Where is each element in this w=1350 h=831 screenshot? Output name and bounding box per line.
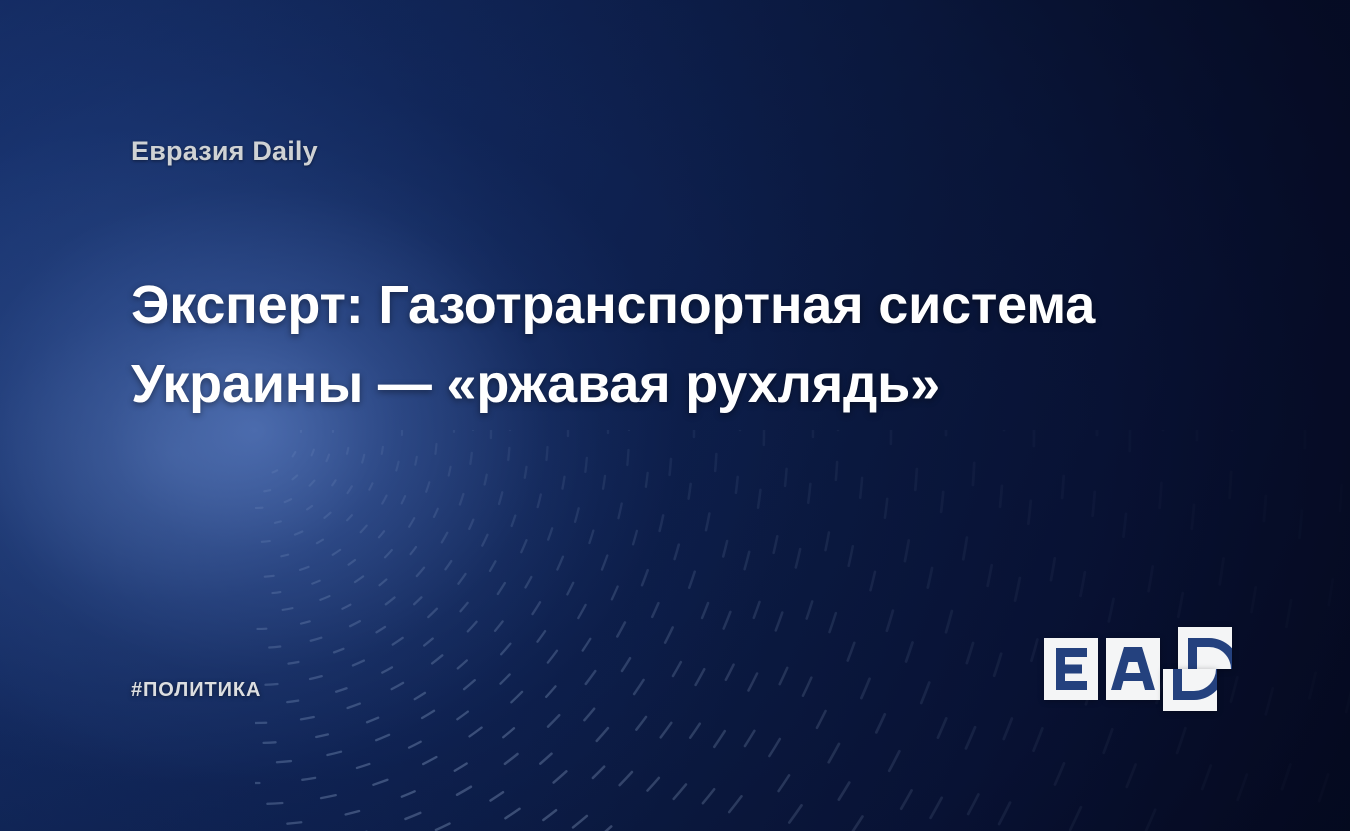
logo-tile-e xyxy=(1044,638,1098,700)
logo-tile-d-top xyxy=(1178,627,1232,669)
page-title: Эксперт: Газотранспортная система Украин… xyxy=(131,266,1141,424)
logo-tile-a xyxy=(1106,638,1160,700)
brand-wordmark: Евразия Daily xyxy=(131,136,318,167)
article-social-card: Евразия Daily Эксперт: Газотранспортная … xyxy=(0,0,1350,831)
ead-logo[interactable] xyxy=(1044,627,1224,711)
category-hashtag[interactable]: #ПОЛИТИКА xyxy=(131,679,261,702)
logo-tile-d-bottom xyxy=(1163,669,1217,711)
headline-line-1: Эксперт: Газотранспортная система xyxy=(131,266,1141,345)
headline-line-2: Украины — «ржавая рухлядь» xyxy=(131,345,1141,424)
